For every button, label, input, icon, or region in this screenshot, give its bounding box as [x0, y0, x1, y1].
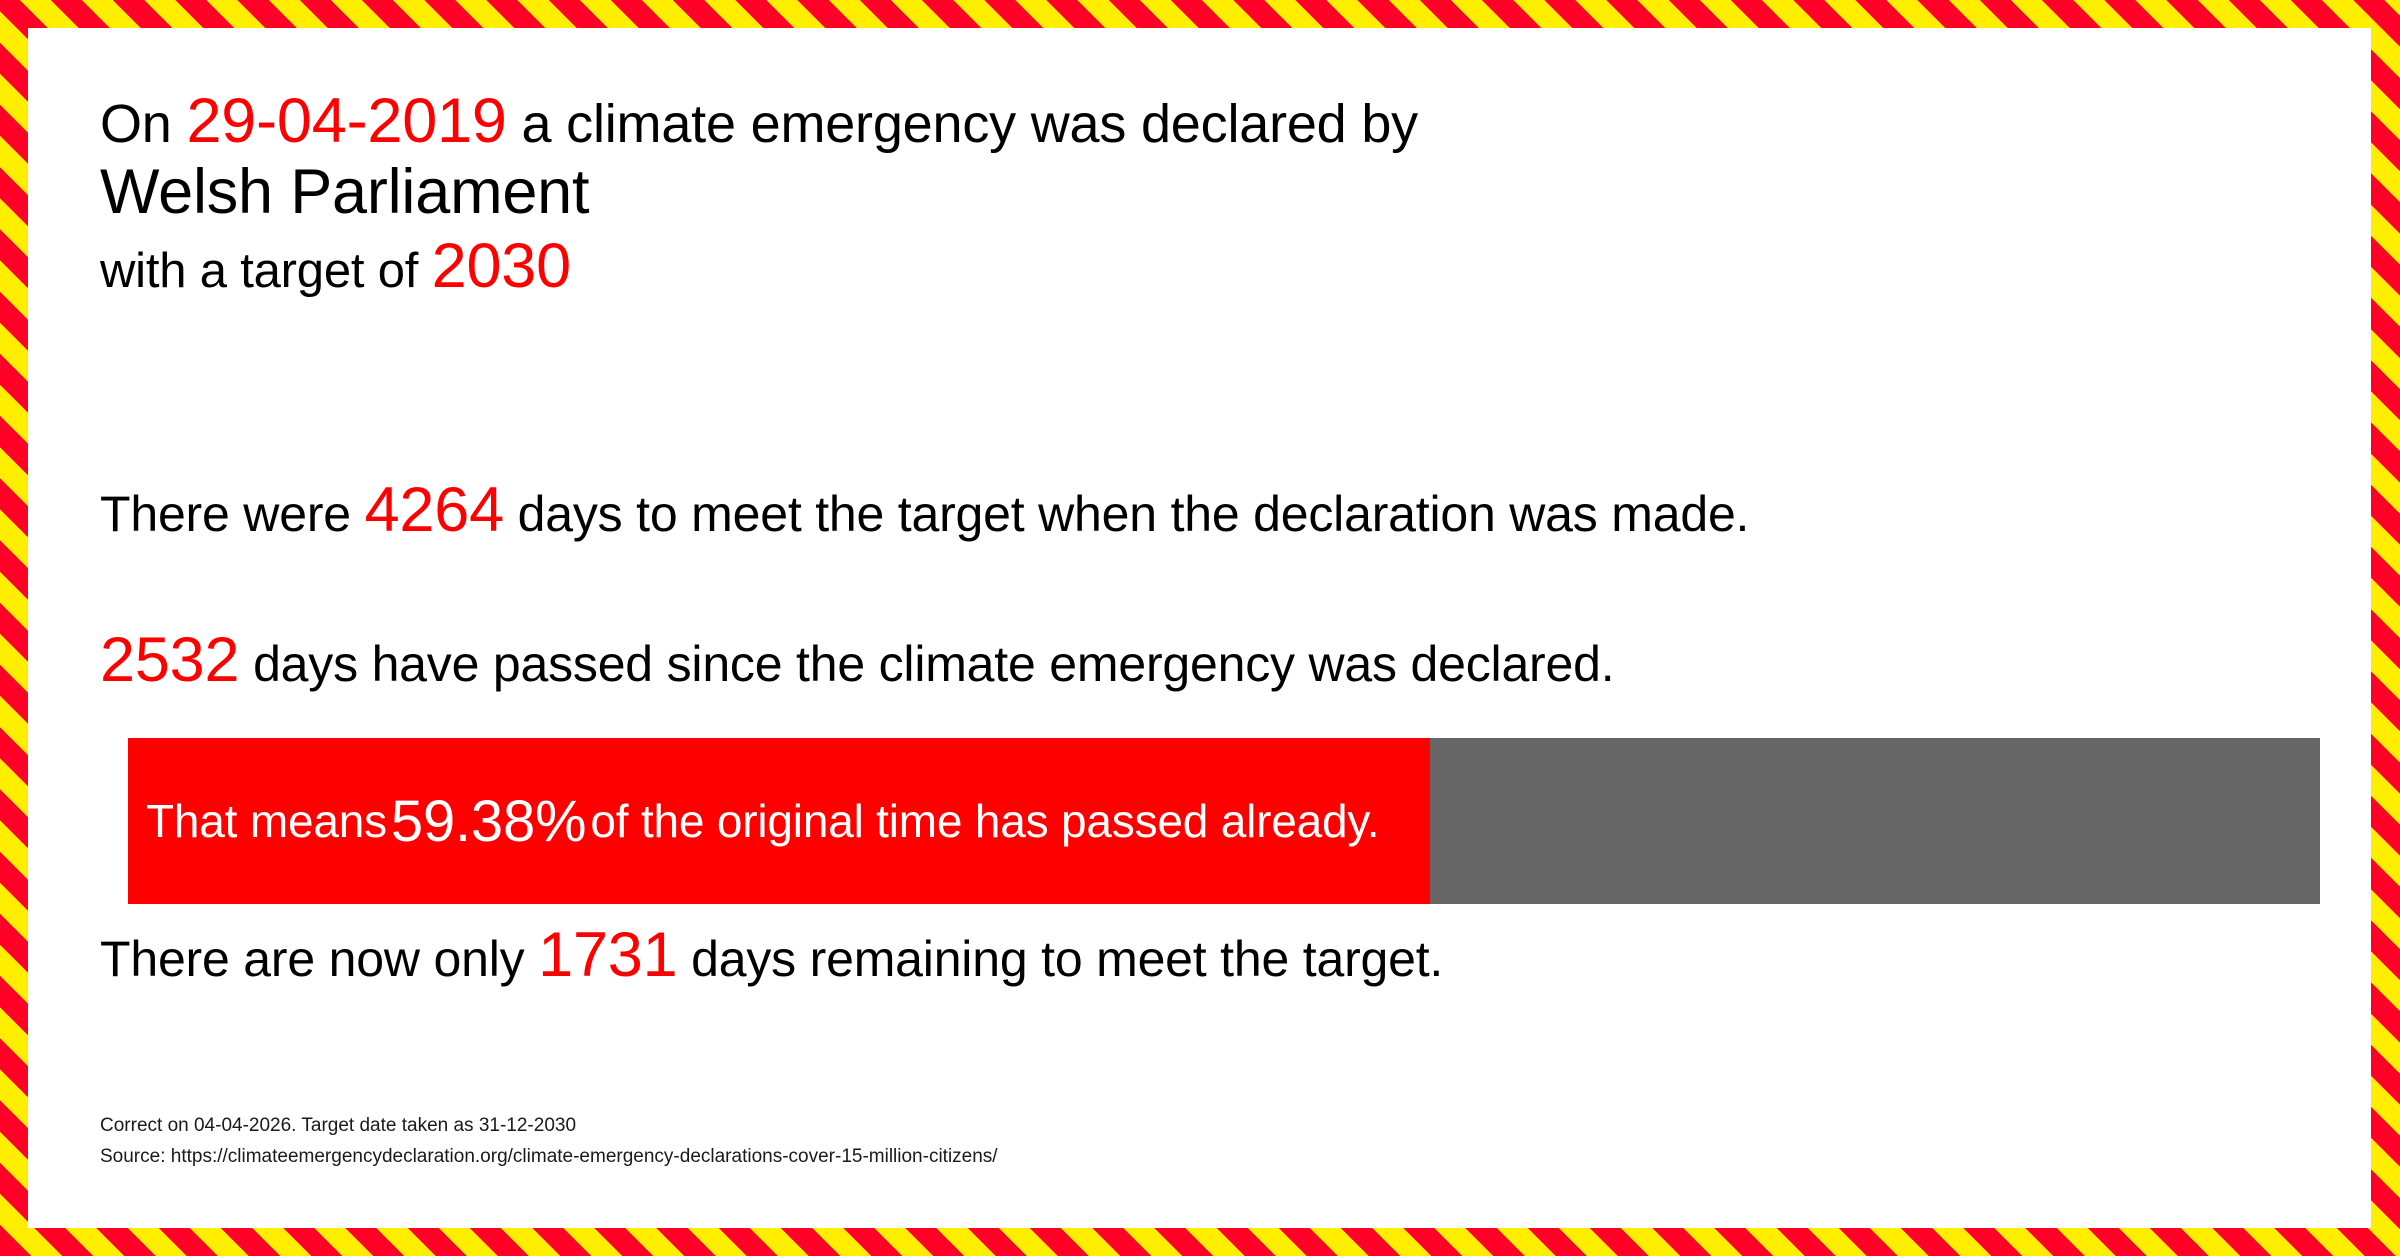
progress-suffix: of the original time has passed already. [590, 794, 1379, 848]
progress-prefix: That means [146, 794, 387, 848]
headline-prefix: On [100, 94, 172, 154]
days-available-prefix: There were [100, 486, 351, 542]
days-passed-line: 2532 days have passed since the climate … [100, 630, 1614, 694]
declaring-body-name: Welsh Parliament [100, 156, 589, 228]
days-available-suffix: days to meet the target when the declara… [518, 486, 1750, 542]
footer-note: Correct on 04-04-2026. Target date taken… [100, 1110, 998, 1172]
declaration-headline: On 29-04-2019 a climate emergency was de… [100, 90, 1418, 155]
days-passed-value: 2532 [100, 625, 239, 695]
target-prefix: with a target of [100, 244, 418, 298]
target-line: with a target of 2030 [100, 236, 571, 301]
days-remaining-line: There are now only 1731 days remaining t… [100, 925, 1443, 989]
days-available-line: There were 4264 days to meet the target … [100, 480, 1749, 544]
progress-percent: 59.38% [387, 788, 591, 855]
target-year: 2030 [432, 231, 571, 301]
days-remaining-prefix: There are now only [100, 931, 524, 987]
footer-correct-on: Correct on 04-04-2026. Target date taken… [100, 1110, 998, 1141]
declaration-date: 29-04-2019 [186, 86, 506, 156]
progress-bar-label: That means 59.38% of the original time h… [146, 738, 1379, 904]
days-remaining-suffix: days remaining to meet the target. [691, 931, 1443, 987]
poster-card: On 29-04-2019 a climate emergency was de… [28, 28, 2371, 1228]
headline-suffix: a climate emergency was declared by [522, 94, 1418, 154]
days-available-value: 4264 [365, 475, 504, 545]
days-remaining-value: 1731 [538, 920, 677, 990]
footer-source: Source: https://climateemergencydeclarat… [100, 1141, 998, 1172]
time-elapsed-progress-bar: That means 59.38% of the original time h… [128, 738, 2320, 904]
days-passed-suffix: days have passed since the climate emerg… [253, 636, 1614, 692]
hazard-border-frame: On 29-04-2019 a climate emergency was de… [0, 0, 2400, 1256]
poster-content: On 29-04-2019 a climate emergency was de… [100, 28, 2331, 1228]
